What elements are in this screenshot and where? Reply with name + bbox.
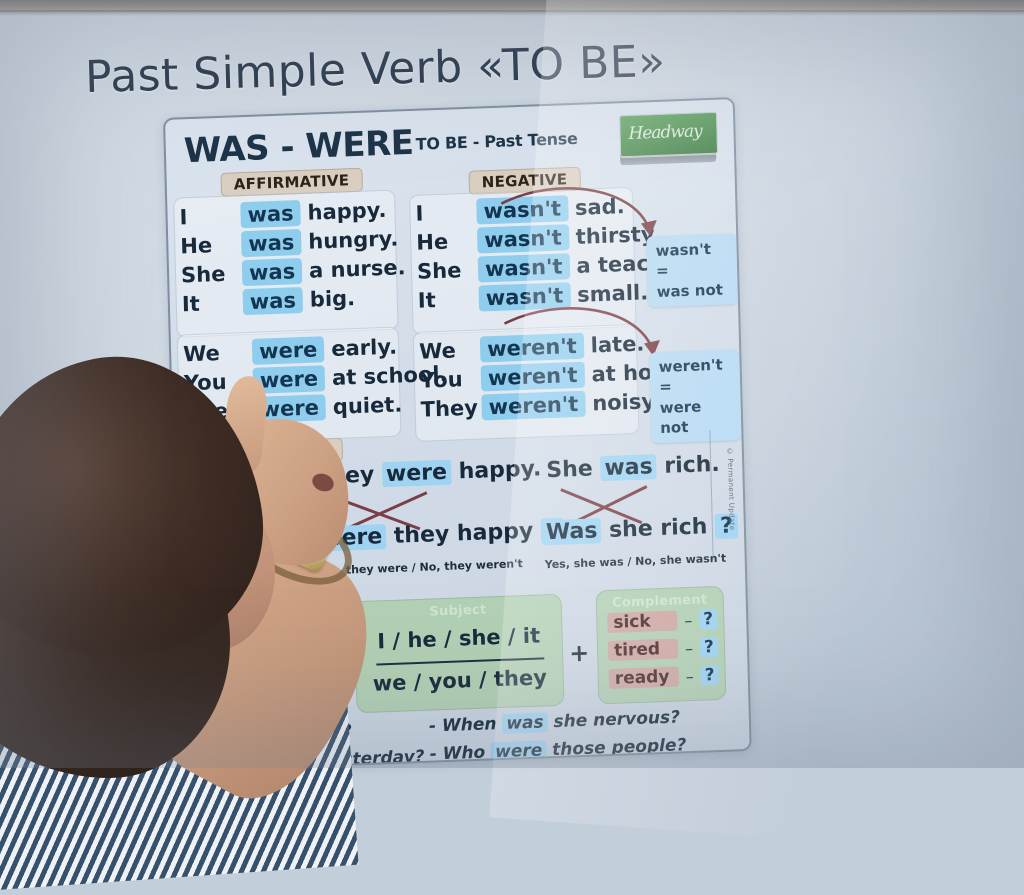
- complement-cell: a nurse.: [309, 255, 406, 283]
- subject-cell: She: [417, 258, 472, 284]
- complement-cell: happy.: [307, 197, 404, 225]
- q-pre: She: [546, 456, 593, 483]
- bottom-example-2: - When was she nervous?: [429, 707, 680, 736]
- complement-tired: tired: [608, 638, 678, 661]
- subject-cell: He: [416, 229, 471, 255]
- dash-icon: –: [684, 610, 692, 629]
- complement-sick: sick: [607, 610, 677, 633]
- subject-cell: I: [415, 200, 470, 226]
- complement-mark: ?: [700, 637, 718, 658]
- q-post: happy.: [458, 456, 541, 484]
- complement-row: ready – ?: [609, 665, 719, 689]
- subject-cell: They: [420, 396, 475, 422]
- subject-cell: I: [179, 203, 234, 229]
- complement-cell: sad.: [575, 192, 692, 220]
- contraction-wasnt: wasn't = was not: [646, 233, 738, 307]
- verb-cell: wasn't: [478, 253, 570, 282]
- contraction-long: was not: [656, 279, 728, 302]
- complement-cell: hungry.: [308, 226, 405, 254]
- q-post: she rich: [609, 514, 708, 543]
- complement-ready: ready: [609, 666, 679, 689]
- headway-logo-badge: Headway: [619, 112, 718, 158]
- q-highlight: were: [382, 460, 452, 488]
- question-right-short-answer: Yes, she was / No, she wasn't: [545, 552, 727, 572]
- verb-cell: weren't: [480, 333, 584, 363]
- subject-cell: He: [180, 232, 235, 258]
- teacher-figure: [0, 358, 390, 768]
- subject-cell: She: [181, 261, 236, 287]
- dash-icon: –: [685, 638, 693, 657]
- verb-cell: was: [240, 200, 301, 228]
- ex-highlight: was: [502, 712, 548, 734]
- q-post: happy: [457, 519, 534, 547]
- ex-pre: - Who: [429, 743, 485, 765]
- table-affirmative-singular: I was happy. He was hungry. She was a nu…: [179, 196, 406, 317]
- slide-title: Past Simple Verb «TO BE»: [84, 36, 666, 103]
- q-pre: Was: [542, 518, 602, 545]
- formula-box-complement: Complement sick – ? tired – ? ready – ?: [595, 586, 726, 705]
- contraction-werent: weren't = were not: [649, 349, 741, 443]
- dash-icon: –: [686, 666, 694, 685]
- ex-highlight: were: [491, 740, 547, 762]
- ex-pre: - When: [429, 714, 497, 736]
- ceiling-edge-shadow: [0, 10, 1024, 16]
- complement-row: tired – ?: [608, 637, 718, 661]
- verb-cell: wasn't: [478, 282, 570, 311]
- verb-cell: wasn't: [477, 224, 569, 253]
- verb-cell: weren't: [481, 362, 585, 392]
- complement-mark: ?: [699, 609, 717, 630]
- logo-wordmark: Headway: [628, 121, 702, 144]
- subject-cell: It: [418, 287, 473, 313]
- complement-row: sick – ?: [607, 609, 717, 633]
- q-highlight: was: [600, 454, 657, 481]
- question-right-affirmative: She was rich.: [546, 452, 720, 483]
- verb-cell: was: [243, 287, 304, 315]
- q-post: rich.: [664, 452, 720, 479]
- formula-subject-rule: [376, 657, 544, 665]
- column-divider: [709, 430, 713, 560]
- contraction-short: weren't =: [658, 354, 731, 397]
- copyright-text: © Permanent Update: [726, 447, 736, 530]
- bottom-example-4: - Who were those people?: [429, 735, 686, 764]
- verb-cell: weren't: [481, 391, 585, 421]
- ex-post: those people?: [552, 735, 687, 760]
- verb-cell: was: [241, 229, 302, 257]
- complement-cell: big.: [310, 284, 407, 312]
- projection-screen: Past Simple Verb «TO BE» WAS - WERE TO B…: [0, 0, 1024, 768]
- question-right-question: Was she rich ?: [542, 513, 739, 545]
- subject-cell: We: [419, 338, 474, 364]
- verb-cell: wasn't: [476, 195, 568, 224]
- complement-mark: ?: [700, 665, 718, 686]
- verb-cell: was: [242, 258, 303, 286]
- subject-cell: It: [182, 290, 237, 316]
- contraction-short: wasn't =: [655, 238, 728, 281]
- ex-post: she nervous?: [553, 707, 680, 732]
- poster-heading-sub: TO BE - Past Tense: [416, 129, 578, 154]
- plus-sign-3: +: [569, 639, 590, 668]
- contraction-long: were not: [659, 395, 732, 438]
- subject-cell: You: [420, 367, 475, 393]
- q-highlight: they: [394, 522, 450, 549]
- poster-heading-main: WAS - WERE: [183, 123, 414, 171]
